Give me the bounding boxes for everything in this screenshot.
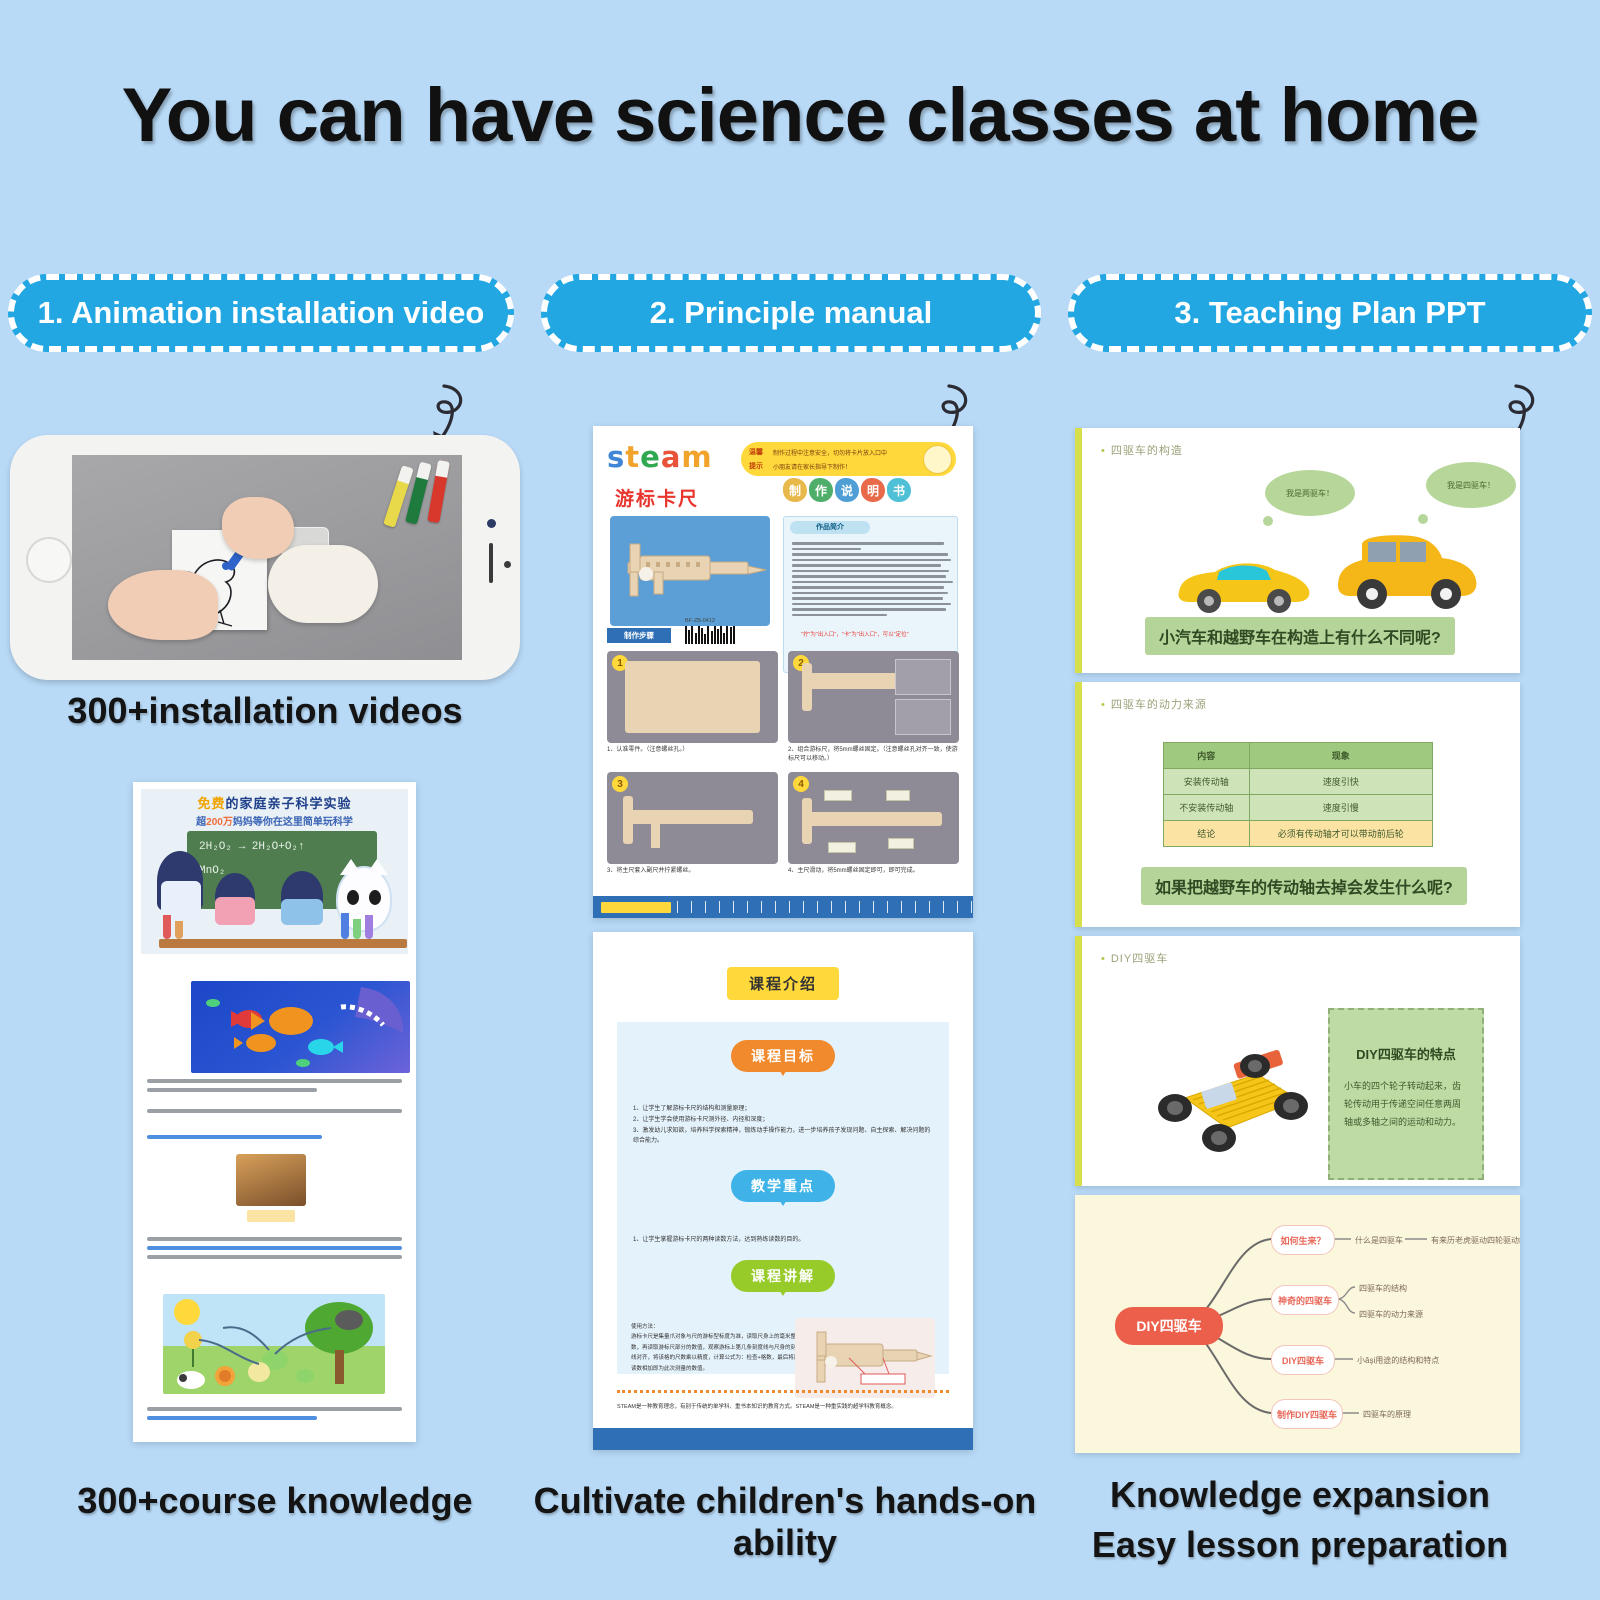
poster-paragraph-2: [133, 1104, 416, 1118]
notice-label-2: 提示: [749, 461, 763, 471]
sweater-sleeve: [268, 545, 378, 623]
manual-footer-bar: [593, 896, 973, 918]
page-title: You can have science classes at home: [0, 72, 1600, 159]
mindmap-node: 制作DIY四驱车: [1271, 1399, 1343, 1429]
manual-page-front[interactable]: steam 温馨 提示 制作过程中注意安全，切勿将卡片放入口中 小朋友请在家长指…: [593, 426, 973, 918]
assembly-step: 1 1、认准零件。（注意螺丝孔。）: [607, 651, 778, 764]
feature-box-text: 小车的四个轮子转动起来，齿轮传动用于传递空间任意两周轴或多轴之间的运动和动力。: [1344, 1077, 1468, 1131]
dotted-divider: [617, 1390, 949, 1393]
thought-dot-2: [1418, 514, 1428, 524]
bubble-course-explain: 课程讲解: [731, 1260, 835, 1292]
table-row: 不安装传动轴 速度引慢: [1164, 795, 1433, 821]
slide-2-caption: 如果把越野车的传动轴去掉会发生什么呢?: [1141, 867, 1467, 905]
explain-label: 使用方法：: [631, 1322, 806, 1332]
wood-plate: [625, 661, 760, 733]
caption-knowledge: 300+course knowledge: [30, 1480, 520, 1522]
test-tube-orange: [175, 921, 183, 939]
mindmap-canvas: DIY四驱车 如何生来？ 什么是四驱车 有来历老虎驱动四轮驱动的汽车 神奇的四驱…: [1075, 1195, 1520, 1453]
step-image: 4: [788, 772, 959, 864]
caption-ppt-line1: Knowledge expansion: [1075, 1474, 1525, 1516]
slide-1-caption: 小汽车和越野车在构造上有什么不同呢?: [1145, 617, 1455, 655]
mindmap-leaf: 四驱车的结构: [1359, 1283, 1407, 1294]
poster-thumbnail[interactable]: [236, 1154, 306, 1206]
fish-icons: [191, 981, 410, 1073]
chalk-equation-2: MnO₂: [199, 865, 225, 877]
table-cell: 结论: [1164, 821, 1250, 847]
slide-1-heading: 四驱车的构造: [1101, 442, 1183, 458]
thought-bubble-right: 我是四驱车！: [1426, 462, 1516, 508]
manual-blob-title: 制 作 说 明 书: [783, 478, 911, 502]
description-header: 作品简介: [790, 521, 870, 534]
steam-logo: steam: [607, 440, 713, 474]
step-caption: 2、组合游标尺，将5mm螺丝固定。（注意螺丝孔对齐一致，使游标尺可以移动。）: [788, 746, 959, 764]
step-pill-1[interactable]: 1. Animation installation video: [8, 274, 514, 352]
mindmap-root: DIY四驱车: [1115, 1307, 1223, 1345]
mindmap-node: 神奇的四驱车: [1271, 1285, 1339, 1315]
ppt-slide-1[interactable]: 四驱车的构造 我是两驱车！ 我是四驱车！ 小汽车和越野车在构造上有什么不同呢?: [1075, 428, 1520, 673]
test-tube-green: [353, 919, 361, 939]
chalk-equation-1: 2H₂O₂ → 2H₂O+O₂↑: [199, 841, 305, 853]
product-title: 游标卡尺: [615, 484, 699, 511]
assembly-steps: 1 1、认准零件。（注意螺丝孔。） 2 2、组合游标尺，将5mm螺丝固定。（注意…: [607, 651, 959, 876]
bubble-course-goal: 课程目标: [731, 1040, 835, 1072]
poster-paragraph-1: [133, 1074, 416, 1097]
caliper-icon: [610, 516, 770, 626]
thought-bubble-left: 我是两驱车！: [1265, 470, 1355, 516]
step-pill-1-label: 1. Animation installation video: [38, 295, 485, 331]
product-photo: [610, 516, 770, 626]
slide-accent-bar: [1075, 428, 1082, 673]
explain-photo: [795, 1318, 935, 1398]
phone-camera-icon: [487, 519, 496, 528]
notice-text-1: 制作过程中注意安全，切勿将卡片放入口中: [773, 448, 887, 457]
bubble-teaching-key: 教学重点: [731, 1170, 835, 1202]
step-pill-2[interactable]: 2. Principle manual: [541, 274, 1041, 352]
key-item: 1、让学生掌握游标卡尺的两种读数方法，达到熟练读数的目的。: [633, 1234, 933, 1243]
mindmap-leaf: 四驱车的动力来源: [1359, 1309, 1423, 1320]
course-knowledge-poster[interactable]: 免费的家庭亲子科学实验 超200万妈妈等你在这里简单玩科学 2H₂O₂ → 2H…: [133, 782, 416, 1442]
blob-2: 作: [809, 478, 833, 502]
manual-page-lesson[interactable]: 课程介绍 课程目标 1、让学生了解游标卡尺的结构和测量原理； 2、让学生学会使用…: [593, 932, 973, 1450]
hand-left: [108, 570, 218, 640]
poster-banner-title: 免费的家庭亲子科学实验: [141, 793, 408, 812]
explain-block: 使用方法： 游标卡尺是集量爪对象与尺的游标型标度为准，读取尺身上的毫米整数，再读…: [631, 1322, 806, 1374]
ppt-slide-4[interactable]: DIY四驱车 如何生来？ 什么是四驱车 有来历老虎驱动四轮驱动的汽车 神奇的四驱…: [1075, 1195, 1520, 1453]
product-description: 作品简介: [783, 516, 958, 673]
step-caption: 1、认准零件。（注意螺丝孔。）: [607, 746, 778, 755]
manual-footer-text: STEAM是一种教育理念，有别于传统的单学科、重书本知识的教育方式。STEAM是…: [617, 1402, 949, 1412]
poster-title-rest: 的家庭亲子科学实验: [226, 796, 352, 811]
feature-box-title: DIY四驱车的特点: [1330, 1044, 1482, 1063]
table-header-cell: 现象: [1249, 743, 1432, 769]
kid-2-shirt: [281, 899, 323, 925]
poster-thumb-tag: [247, 1210, 295, 1222]
poster-paragraph-4: [133, 1402, 416, 1425]
bunny-mascot-icon: [923, 445, 952, 474]
red-note: "拧"为"出入口"，"卡"为"出入口"，可以"定位": [801, 630, 909, 638]
poster-highlight-line: [133, 1130, 416, 1144]
table-cell: 速度引慢: [1249, 795, 1432, 821]
goal-item: 3、激发幼儿求知欲，培养科学探索精神，锻炼动手操作能力，进一步培养孩子发现问题、…: [633, 1126, 933, 1148]
table-row: 安装传动轴 速度引快: [1164, 769, 1433, 795]
goal-item: 2、让学生学会使用游标卡尺测外径、内径和深度；: [633, 1115, 933, 1126]
table-cell: 必须有传动轴才可以带动前后轮: [1249, 821, 1432, 847]
step-caption: 3、将主尺套入副尺并拧紧螺丝。: [607, 867, 778, 876]
diy-4wd-chassis-icon: [1145, 1034, 1315, 1154]
underwater-illustration: [191, 981, 410, 1073]
mindmap-leaf: 四驱车的原理: [1363, 1409, 1411, 1420]
blob-5: 书: [887, 478, 911, 502]
step-pill-3[interactable]: 3. Teaching Plan PPT: [1068, 274, 1592, 352]
manual-bottom-bar: [593, 1428, 973, 1450]
table-header-cell: 内容: [1164, 743, 1250, 769]
notice-label-1: 温馨: [749, 447, 763, 457]
mindmap-leaf: 有来历老虎驱动四轮驱动的汽车: [1431, 1235, 1520, 1246]
steps-section-tag: 制作步骤: [607, 628, 671, 643]
mindmap-leaf: 什么是四驱车: [1355, 1235, 1403, 1246]
assembly-step: 4 4、主尺滑动，将5mm螺丝固定即可，即可完成。: [788, 772, 959, 876]
lesson-intro-title: 课程介绍: [727, 967, 839, 1000]
caliper-detail-icon: [795, 1318, 935, 1398]
caption-ppt-line2: Easy lesson preparation: [1075, 1524, 1525, 1566]
thought-dot-1: [1263, 516, 1273, 526]
phone-home-button[interactable]: [26, 537, 72, 583]
assembly-step: 3 3、将主尺套入副尺并拧紧螺丝。: [607, 772, 778, 876]
step-image: 1: [607, 651, 778, 743]
barcode-icon: [685, 626, 735, 644]
notice-text-2: 小朋友请在家长指导下制作！: [773, 462, 851, 471]
lesson-panel: 课程目标 1、让学生了解游标卡尺的结构和测量原理； 2、让学生学会使用游标卡尺测…: [617, 1022, 949, 1374]
blob-4: 明: [861, 478, 885, 502]
caption-videos: 300+installation videos: [10, 690, 520, 732]
slide-2-heading: 四驱车的动力来源: [1101, 696, 1207, 712]
slide-3-heading: DIY四驱车: [1101, 950, 1168, 966]
description-body: [784, 539, 957, 619]
table-cell: 速度引快: [1249, 769, 1432, 795]
step-pill-3-label: 3. Teaching Plan PPT: [1174, 295, 1485, 331]
footer-tag: [601, 902, 671, 913]
step-number-badge: 4: [793, 776, 809, 792]
kid-1-shirt: [215, 897, 255, 925]
phone-screen[interactable]: [72, 455, 462, 660]
phone-speaker-icon: [489, 543, 493, 583]
caption-manual: Cultivate children's hands-on ability: [480, 1480, 1090, 1564]
explain-text: 游标卡尺是集量爪对象与尺的游标型标度为准，读取尺身上的毫米整数，再读取游标尺部分…: [631, 1332, 806, 1374]
barcode-number: BF-ZB-0412: [685, 618, 715, 624]
assembly-step: 2 2、组合游标尺，将5mm螺丝固定。（注意螺丝孔对齐一致，使游标尺可以移动。）: [788, 651, 959, 764]
goal-list: 1、让学生了解游标卡尺的结构和测量原理； 2、让学生学会使用游标卡尺测外径、内径…: [633, 1104, 933, 1147]
test-tube-purple: [365, 915, 373, 939]
poster-banner: 免费的家庭亲子科学实验 超200万妈妈等你在这里简单玩科学 2H₂O₂ → 2H…: [141, 789, 408, 954]
mindmap-node: 如何生来？: [1271, 1225, 1335, 1255]
sedan-car-icon: [1167, 546, 1317, 614]
ppt-slide-3[interactable]: DIY四驱车 DIY四驱车的特点 小车的四个轮子转动起来，齿轮传动用于传递空间任…: [1075, 936, 1520, 1186]
phone-mockup: [10, 435, 520, 680]
blob-3: 说: [835, 478, 859, 502]
ruler-graphic: [677, 901, 973, 913]
poster-paragraph-3: [133, 1232, 416, 1264]
step-caption: 4、主尺滑动，将5mm螺丝固定即可，即可完成。: [788, 867, 959, 876]
slide-accent-bar: [1075, 682, 1082, 927]
food-chain-icons: [163, 1294, 385, 1394]
test-tube-blue: [341, 913, 349, 939]
poster-banner-sub: 超200万妈妈等你在这里简单玩科学: [141, 813, 408, 828]
table-cell: 不安装传动轴: [1164, 795, 1250, 821]
safety-notice-banner: 温馨 提示 制作过程中注意安全，切勿将卡片放入口中 小朋友请在家长指导下制作！: [741, 442, 956, 476]
blob-1: 制: [783, 478, 807, 502]
phone-sensor-icon: [504, 561, 511, 568]
food-chain-illustration: [163, 1294, 385, 1394]
mindmap-node: DIY四驱车: [1271, 1345, 1335, 1375]
promo-page: You can have science classes at home 1. …: [0, 0, 1600, 1600]
step-image: 3: [607, 772, 778, 864]
mindmap-leaf: 小ăşi用途的结构和特点: [1357, 1355, 1439, 1366]
step-image: 2: [788, 651, 959, 743]
feature-box: DIY四驱车的特点 小车的四个轮子转动起来，齿轮传动用于传递空间任意两周轴或多轴…: [1328, 1008, 1484, 1180]
goal-item: 1、让学生了解游标卡尺的结构和测量原理；: [633, 1104, 933, 1115]
suv-car-icon: [1326, 528, 1486, 614]
table-header-row: 内容 现象: [1164, 743, 1433, 769]
table-row-conclusion: 结论 必须有传动轴才可以带动前后轮: [1164, 821, 1433, 847]
lab-shelf: [159, 939, 407, 948]
table-cell: 安装传动轴: [1164, 769, 1250, 795]
ppt-slide-2[interactable]: 四驱车的动力来源 内容 现象 安装传动轴 速度引快 不安装传动轴 速度引慢 结论…: [1075, 682, 1520, 927]
step-pill-2-label: 2. Principle manual: [650, 295, 933, 331]
slide-accent-bar: [1075, 936, 1082, 1186]
hand-right: [222, 497, 294, 559]
poster-title-highlight: 免费: [197, 796, 225, 811]
test-tube-red: [163, 915, 171, 939]
step-number-badge: 3: [612, 776, 628, 792]
power-source-table: 内容 现象 安装传动轴 速度引快 不安装传动轴 速度引慢 结论 必须有传动轴才可…: [1163, 742, 1433, 847]
